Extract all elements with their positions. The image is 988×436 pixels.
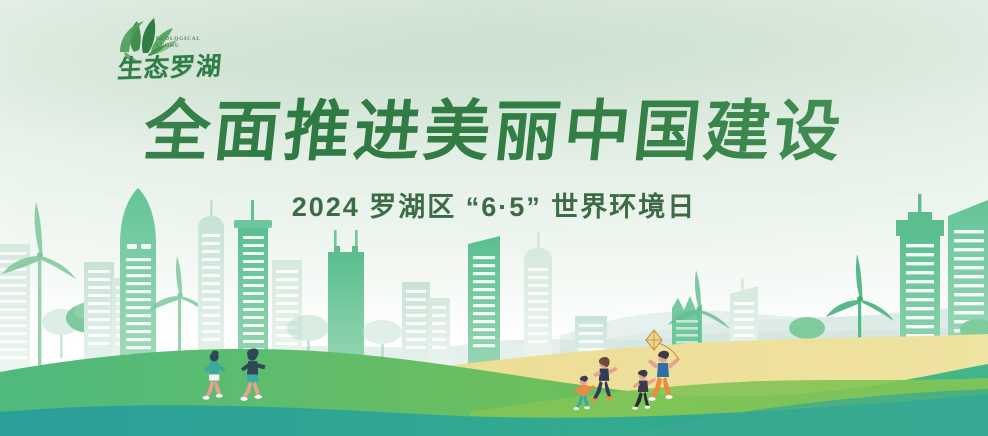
building-center-green-tall — [468, 236, 500, 378]
city-landscape-illustration — [0, 186, 988, 436]
bullet-tower — [120, 188, 156, 378]
logo-chinese-text: 生态罗湖 — [116, 46, 224, 86]
ecological-luohu-logo[interactable]: ECOLOGICAL LUOHU 生态罗湖 — [104, 8, 224, 88]
main-title: 全面推进美丽中国建设 — [0, 96, 988, 170]
environment-day-banner: ECOLOGICAL LUOHU 生态罗湖 全面推进美丽中国建设 2024 罗湖… — [0, 0, 988, 436]
